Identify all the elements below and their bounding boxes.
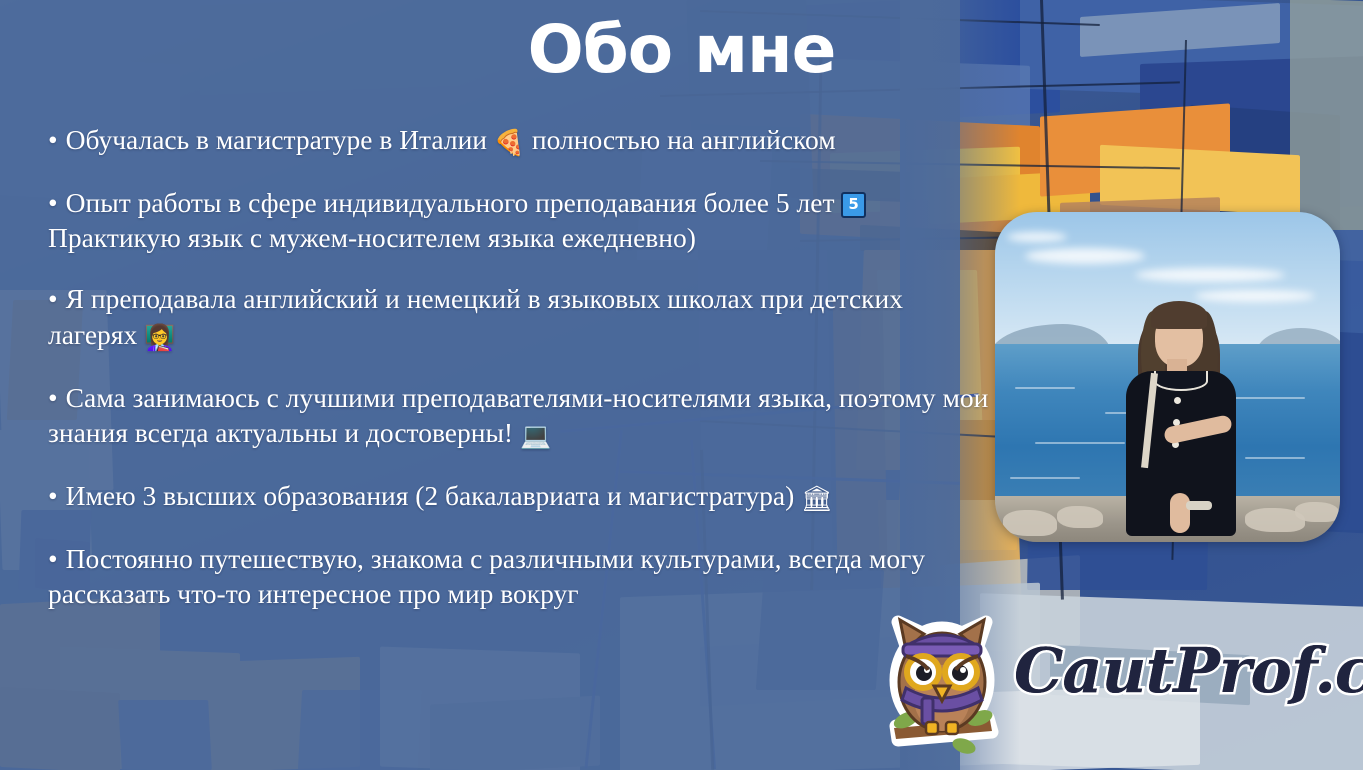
list-item: •Сама занимаюсь с лучшими преподавателям… — [48, 380, 998, 452]
list-item: •Обучалась в магистратуре в Италии 🍕 пол… — [48, 122, 998, 159]
photo-rock — [1295, 502, 1339, 522]
classical-building-emoji: 🏛 — [801, 484, 833, 513]
bullet-marker: • — [48, 281, 58, 316]
list-item: •Имею 3 высших образования (2 бакалавриа… — [48, 478, 998, 515]
list-item-text-pre: Я преподавала английский и немецкий в яз… — [48, 283, 903, 349]
list-item-text-post: полностью на английском — [525, 124, 836, 155]
list-item-text-post: Практикую язык с мужем-носителем языка е… — [48, 222, 696, 253]
slide-root: Обо мне •Обучалась в магистратуре в Итал… — [0, 0, 1363, 770]
logo-text: CautProf.com — [1014, 634, 1363, 707]
list-item-text-pre: Постоянно путешествую, знакома с различн… — [48, 543, 925, 609]
list-item: •Опыт работы в сфере индивидуального пре… — [48, 185, 998, 255]
photo-cloud — [1135, 268, 1285, 282]
list-item-text-pre: Опыт работы в сфере индивидуального преп… — [66, 187, 842, 218]
woman-teacher-emoji: 👩‍🏫 — [144, 323, 175, 352]
photo-cloud — [1007, 232, 1067, 242]
laptop-emoji: 💻 — [520, 421, 551, 450]
owl-mascot-icon — [876, 606, 1008, 762]
pizza-emoji: 🍕 — [494, 128, 525, 157]
photo-rock — [1003, 510, 1057, 536]
list-item: •Я преподавала английский и немецкий в я… — [48, 281, 998, 353]
bullet-marker: • — [48, 122, 58, 157]
list-item-text-pre: Сама занимаюсь с лучшими преподавателями… — [48, 382, 988, 448]
site-logo[interactable]: CautProf.com CautProf.com — [866, 600, 1358, 766]
about-me-bullet-list: •Обучалась в магистратуре в Италии 🍕 пол… — [48, 122, 998, 639]
photo-cloud — [1025, 248, 1145, 264]
photo-rock — [1057, 506, 1103, 528]
bullet-marker: • — [48, 185, 58, 220]
list-item-text-pre: Обучалась в магистратуре в Италии — [66, 124, 494, 155]
bullet-marker: • — [48, 541, 58, 576]
bullet-marker: • — [48, 478, 58, 513]
bullet-marker: • — [48, 380, 58, 415]
list-item-text-pre: Имею 3 высших образования (2 бакалавриат… — [66, 480, 802, 511]
list-item: •Постоянно путешествую, знакома с различ… — [48, 541, 998, 613]
photo-cloud — [1195, 290, 1315, 302]
page-title: Обо мне — [0, 14, 1363, 87]
portrait-photo — [995, 212, 1340, 542]
keycap-five-emoji: 5 — [841, 192, 865, 218]
